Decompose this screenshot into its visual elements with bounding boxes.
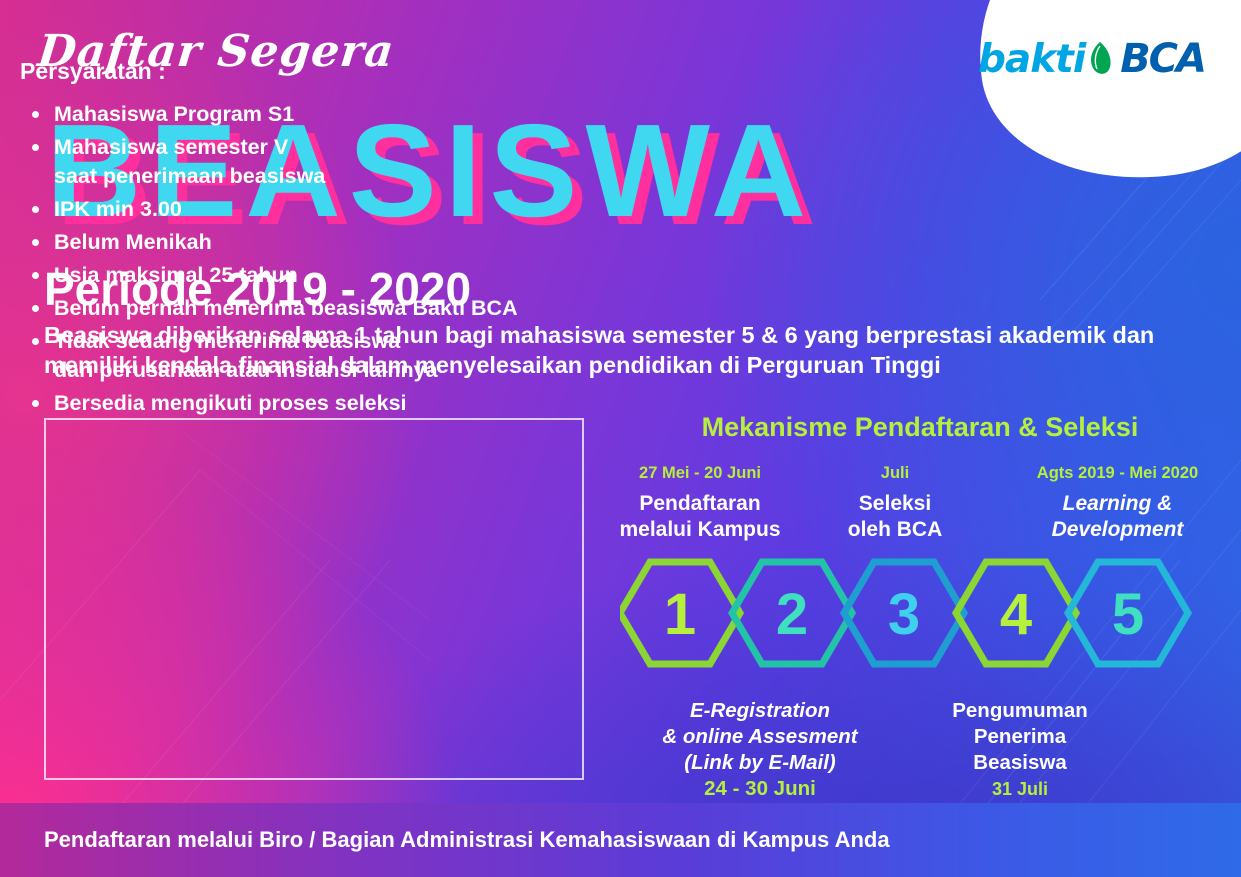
hex-number-5: 5 bbox=[1112, 582, 1144, 647]
list-item: IPK min 3.00 bbox=[54, 195, 564, 224]
list-item: Tidak sedang menerima beasiswadari perus… bbox=[54, 327, 564, 385]
mechanism-title: Mekanisme Pendaftaran & Seleksi bbox=[620, 412, 1220, 443]
stage-head-2: Juli Seleksi oleh BCA bbox=[800, 460, 990, 543]
list-item: Usia maksimal 25 tahun bbox=[54, 261, 564, 290]
list-item: Belum pernah menerima beasiswa Bakti BCA bbox=[54, 294, 564, 323]
logo-blob bbox=[958, 0, 1241, 200]
step-note-1: E-Registration & online Assesment (Link … bbox=[630, 698, 890, 802]
hex-number-4: 4 bbox=[1000, 582, 1032, 647]
stage-head-1: 27 Mei - 20 Juni Pendaftaran melalui Kam… bbox=[600, 460, 800, 543]
poster: bakti BCA Daftar Segera BEASISWA BEASISW… bbox=[0, 0, 1241, 877]
footer-bar: Pendaftaran melalui Biro / Bagian Admini… bbox=[0, 803, 1241, 877]
stage-head-3: Agts 2019 - Mei 2020 Learning & Developm… bbox=[1010, 460, 1225, 543]
list-item: Mahasiswa semester Vsaat penerimaan beas… bbox=[54, 133, 564, 191]
requirements-list: Mahasiswa Program S1 Mahasiswa semester … bbox=[14, 100, 564, 422]
bakti-bca-logo: bakti BCA bbox=[978, 36, 1205, 82]
list-item: Belum Menikah bbox=[54, 228, 564, 257]
list-item: Bersedia mengikuti proses seleksi bbox=[54, 389, 564, 418]
steps-hexagons: 1 2 3 4 5 bbox=[620, 556, 1220, 671]
hex-number-2: 2 bbox=[776, 582, 808, 647]
requirements-title: Persyaratan : bbox=[20, 58, 166, 85]
logo-bca-text: BCA bbox=[1120, 36, 1205, 82]
logo-bakti-text: bakti bbox=[978, 37, 1085, 82]
list-item: Mahasiswa Program S1 bbox=[54, 100, 564, 129]
requirements-box bbox=[44, 418, 584, 780]
hex-number-3: 3 bbox=[888, 582, 920, 647]
footer-text: Pendaftaran melalui Biro / Bagian Admini… bbox=[0, 827, 890, 853]
step-note-2: Pengumuman Penerima Beasiswa 31 Juli bbox=[930, 698, 1110, 802]
hex-number-1: 1 bbox=[664, 582, 696, 647]
leaf-icon bbox=[1085, 40, 1115, 78]
